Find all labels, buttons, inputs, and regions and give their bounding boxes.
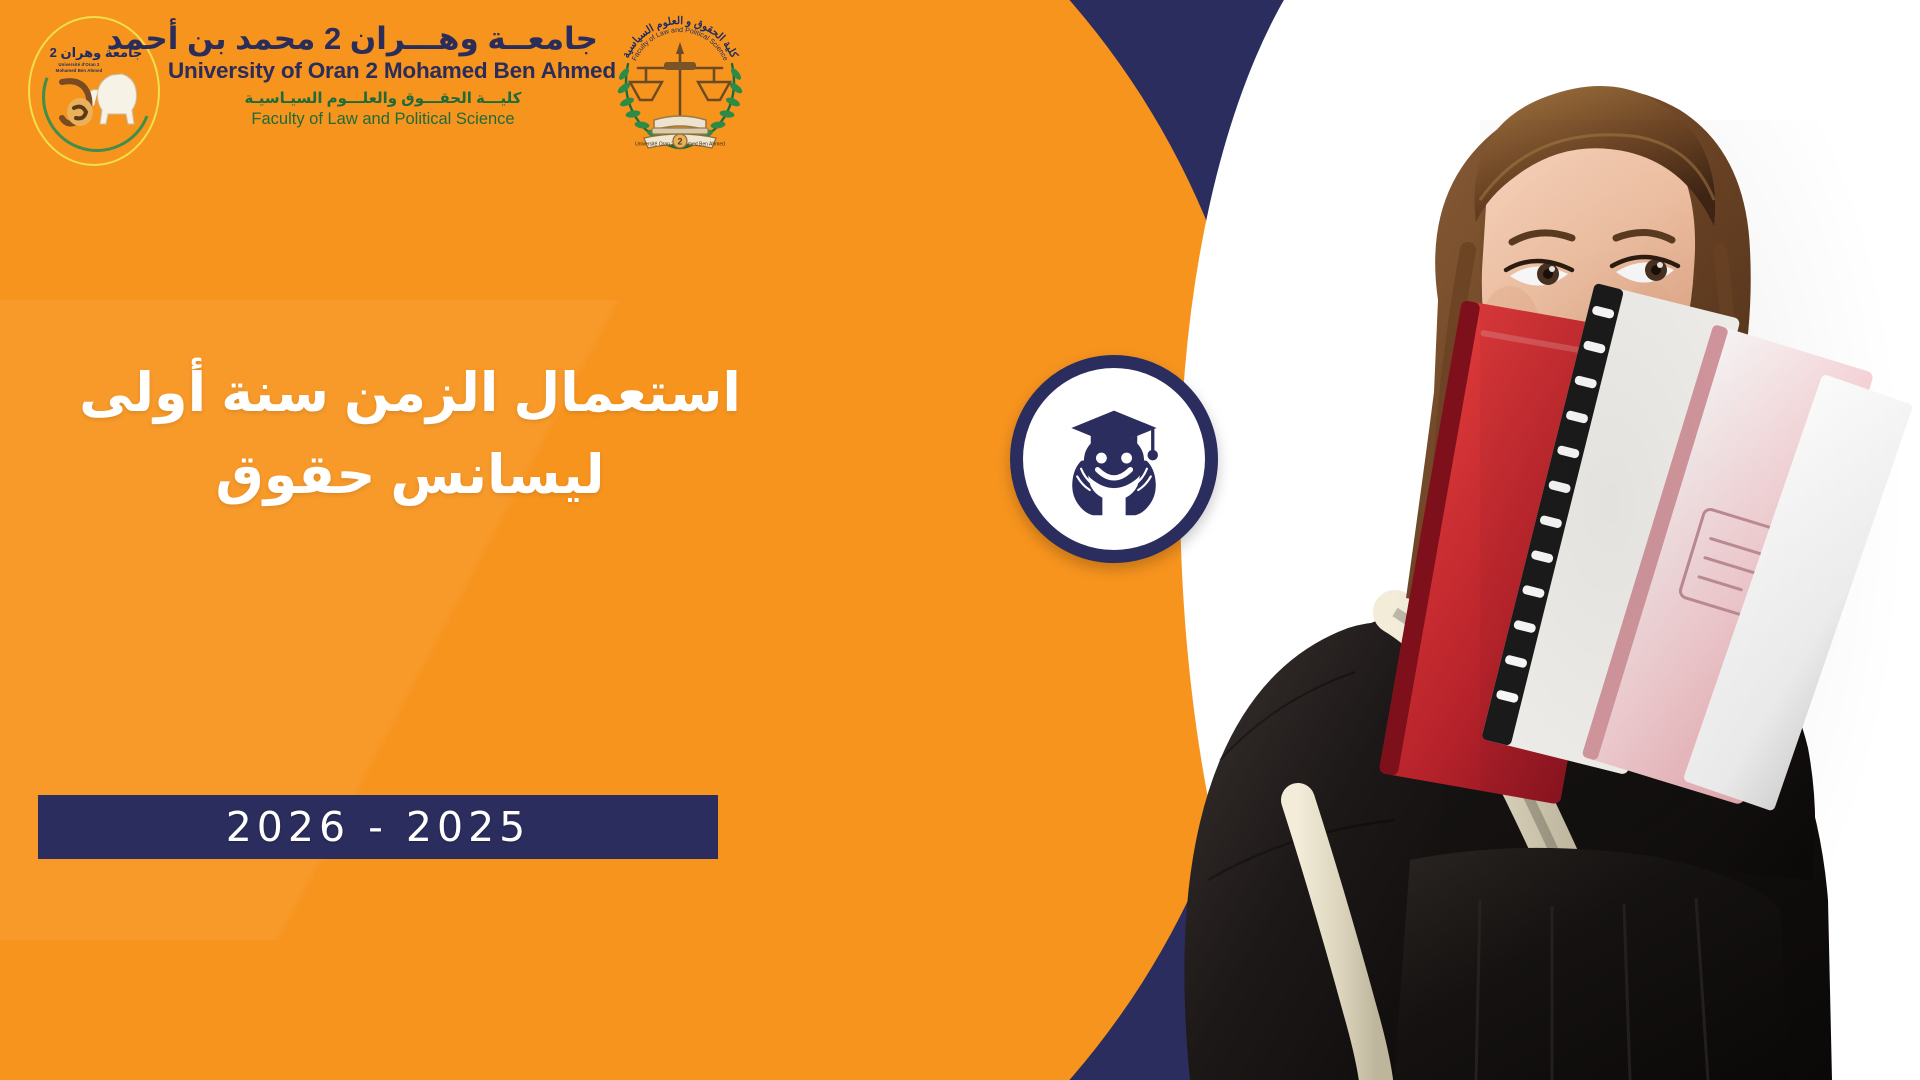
graduate-in-hands-icon — [1052, 397, 1176, 521]
faculty-name-arabic: كليـــة الحقـــوق والعلـــوم السيـاسيـة — [168, 91, 598, 108]
poster-canvas: جامعة وهران 2 Université d'Oran 2 Mohame… — [0, 0, 1920, 1080]
university-name-block: جامعــة وهـــران 2 محمد بن أحمد Universi… — [168, 22, 598, 129]
faculty-name-english: Faculty of Law and Political Science — [168, 110, 598, 128]
logo-latin-line2: Mohamed Ben Ahmed — [42, 68, 116, 74]
student-thinking-photo — [1180, 0, 1920, 1080]
scales-of-justice-seal-icon: كلية الحقوق و العلوم السياسية Faculty of… — [608, 2, 752, 154]
university-name-english: University of Oran 2 Mohamed Ben Ahmed — [168, 58, 598, 83]
university-name-arabic: جامعــة وهـــران 2 محمد بن أحمد — [168, 22, 598, 57]
logo-latin-lines: Université d'Oran 2 Mohamed Ben Ahmed — [42, 62, 116, 74]
poster-header: جامعة وهران 2 Université d'Oran 2 Mohame… — [0, 0, 940, 200]
title-line-2: ليسانس حقوق — [40, 434, 780, 516]
academic-year-banner: 2026 - 2025 — [38, 795, 718, 859]
title-line-1: استعمال الزمن سنة أولى — [40, 352, 780, 434]
logo-calligraphy-hook — [56, 76, 100, 130]
seal-number: 2 — [677, 137, 682, 147]
photo-shadow — [1480, 120, 1910, 1080]
academic-year-text: 2026 - 2025 — [226, 803, 531, 851]
poster-title: استعمال الزمن سنة أولى ليسانس حقوق — [40, 352, 780, 516]
graduate-in-hands-badge — [1010, 355, 1218, 563]
